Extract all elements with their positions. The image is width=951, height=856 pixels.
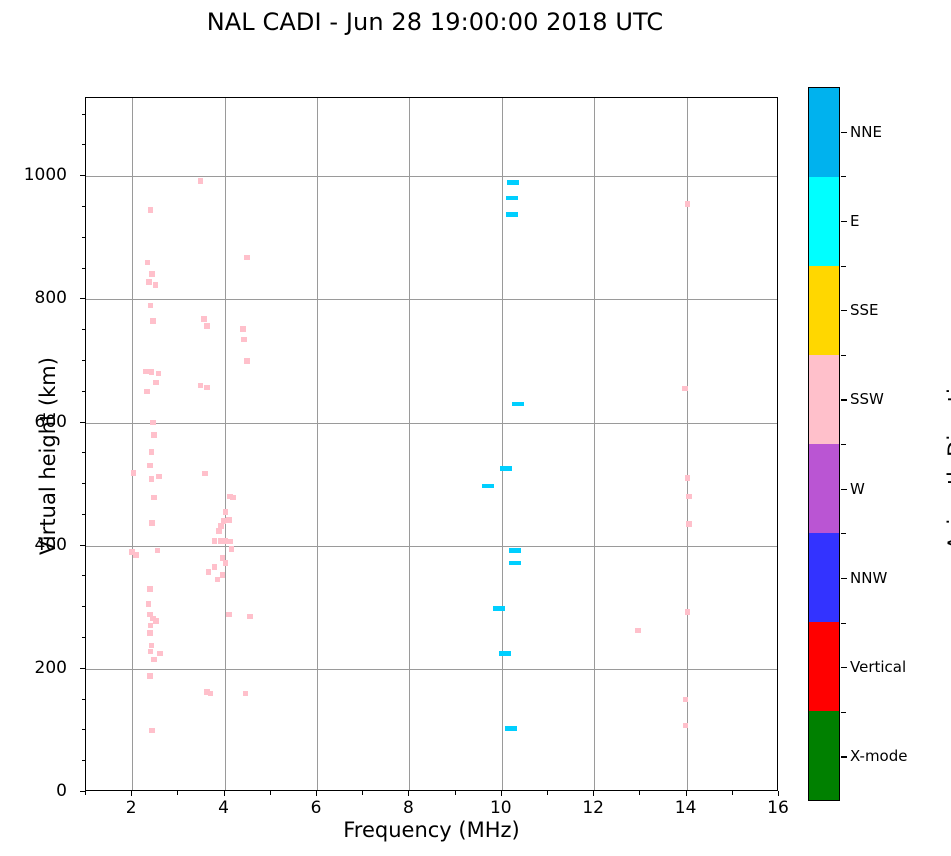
data-point <box>686 494 692 500</box>
x-axis-tick <box>408 791 409 796</box>
data-point <box>226 517 232 523</box>
y-axis-tick <box>80 545 85 546</box>
y-axis-minor-tick <box>82 206 86 207</box>
x-axis-tick-label: 6 <box>311 798 322 818</box>
y-axis-minor-tick <box>82 144 86 145</box>
data-point <box>151 495 157 501</box>
data-point <box>230 495 236 501</box>
colorbar-tick-label: W <box>850 480 865 498</box>
data-point <box>499 651 511 656</box>
data-point <box>240 326 246 332</box>
data-point <box>683 697 689 703</box>
data-point <box>198 383 204 389</box>
y-axis-minor-tick <box>82 760 86 761</box>
data-points-layer <box>86 98 777 790</box>
data-point <box>146 601 152 607</box>
y-axis-minor-tick <box>82 114 86 115</box>
colorbar-boundary-tick <box>841 533 846 534</box>
y-axis-minor-tick <box>82 268 86 269</box>
y-axis-tick-label: 200 <box>35 658 67 678</box>
x-axis-tick-label: 14 <box>675 798 697 818</box>
x-axis-minor-tick <box>270 791 271 795</box>
x-axis-tick <box>686 791 687 796</box>
data-point <box>202 471 208 477</box>
colorbar-segment-e[interactable] <box>809 177 839 266</box>
data-point <box>227 539 233 545</box>
colorbar-label: Azimuth Direction <box>944 306 951 606</box>
data-point <box>682 386 688 392</box>
x-axis-tick-label: 8 <box>403 798 414 818</box>
y-axis-minor-tick <box>82 729 86 730</box>
x-axis-tick-label: 10 <box>490 798 512 818</box>
x-axis-minor-tick <box>455 791 456 795</box>
y-axis-tick <box>80 791 85 792</box>
data-point <box>147 586 153 592</box>
data-point <box>156 371 162 377</box>
x-axis-minor-tick <box>85 791 86 795</box>
colorbar-tick-label: SSW <box>850 390 884 408</box>
azimuth-colorbar[interactable] <box>808 87 840 801</box>
colorbar-boundary-tick <box>841 176 846 177</box>
y-axis-minor-tick <box>82 237 86 238</box>
colorbar-boundary-tick <box>841 623 846 624</box>
x-axis-tick <box>778 791 779 796</box>
x-axis-label: Frequency (MHz) <box>85 818 778 842</box>
data-point <box>683 723 689 729</box>
colorbar-segment-x-mode[interactable] <box>809 711 839 800</box>
data-point <box>156 474 162 480</box>
data-point <box>149 643 155 649</box>
colorbar-segment-w[interactable] <box>809 444 839 533</box>
data-point <box>244 358 250 364</box>
y-axis-minor-tick <box>82 452 86 453</box>
y-axis-minor-tick <box>82 637 86 638</box>
data-point <box>148 207 154 213</box>
x-axis-minor-tick <box>362 791 363 795</box>
data-point <box>145 260 151 266</box>
colorbar-tick <box>841 132 847 133</box>
data-point <box>146 279 152 285</box>
colorbar-segment-vertical[interactable] <box>809 622 839 711</box>
data-point <box>150 420 156 426</box>
x-axis-tick-label: 4 <box>218 798 229 818</box>
y-axis-tick <box>80 298 85 299</box>
data-point <box>150 318 156 324</box>
data-point <box>686 521 692 527</box>
figure-canvas: NAL CADI - Jun 28 19:00:00 2018 UTC 2468… <box>0 0 951 856</box>
y-axis-minor-tick <box>82 575 86 576</box>
plot-area[interactable] <box>85 97 778 791</box>
data-point <box>506 196 518 201</box>
x-axis-tick <box>131 791 132 796</box>
y-axis-tick-label: 800 <box>35 288 67 308</box>
colorbar-tick-label: Vertical <box>850 658 906 676</box>
data-point <box>148 303 154 309</box>
x-axis-tick <box>224 791 225 796</box>
y-axis-minor-tick <box>82 606 86 607</box>
x-axis-tick <box>501 791 502 796</box>
y-axis-tick <box>80 175 85 176</box>
data-point <box>243 691 249 697</box>
y-axis-minor-tick <box>82 699 86 700</box>
y-axis-minor-tick <box>82 391 86 392</box>
colorbar-segment-nnw[interactable] <box>809 533 839 622</box>
y-axis-minor-tick <box>82 360 86 361</box>
data-point <box>148 623 154 629</box>
colorbar-tick <box>841 578 847 579</box>
data-point <box>149 476 155 482</box>
data-point <box>505 726 517 731</box>
data-point <box>204 385 210 391</box>
data-point <box>212 538 218 544</box>
colorbar-boundary-tick <box>841 266 846 267</box>
data-point <box>155 548 161 554</box>
x-axis-tick <box>316 791 317 796</box>
data-point <box>216 528 222 534</box>
y-axis-tick-label: 0 <box>56 781 67 801</box>
data-point <box>147 630 153 636</box>
page-title: NAL CADI - Jun 28 19:00:00 2018 UTC <box>0 8 870 36</box>
x-axis-minor-tick <box>547 791 548 795</box>
data-point <box>493 606 505 611</box>
data-point <box>149 449 155 455</box>
x-axis-tick-label: 12 <box>582 798 604 818</box>
data-point <box>198 178 204 184</box>
data-point <box>509 548 521 553</box>
data-point <box>147 463 153 469</box>
data-point <box>204 323 210 329</box>
y-axis-tick <box>80 422 85 423</box>
x-axis-minor-tick <box>732 791 733 795</box>
colorbar-segment-ssw[interactable] <box>809 355 839 444</box>
data-point <box>685 475 691 481</box>
data-point <box>208 691 214 697</box>
colorbar-tick <box>841 221 847 222</box>
data-point <box>223 560 229 566</box>
colorbar-tick <box>841 489 847 490</box>
x-axis-tick-label: 2 <box>126 798 137 818</box>
data-point <box>506 212 518 217</box>
data-point <box>147 673 153 679</box>
data-point <box>500 466 512 471</box>
data-point <box>153 380 159 386</box>
colorbar-tick <box>841 756 847 757</box>
colorbar-segment-nne[interactable] <box>809 88 839 177</box>
data-point <box>512 402 524 407</box>
colorbar-tick <box>841 310 847 311</box>
data-point <box>149 369 155 375</box>
data-point <box>206 569 212 575</box>
data-point <box>226 612 232 618</box>
data-point <box>244 255 250 261</box>
data-point <box>157 651 163 657</box>
data-point <box>229 546 235 552</box>
y-axis-label: Virtual height (km) <box>36 316 60 596</box>
colorbar-tick <box>841 399 847 400</box>
data-point <box>149 271 155 277</box>
data-point <box>153 618 159 624</box>
data-point <box>153 282 159 288</box>
data-point <box>149 520 155 526</box>
x-axis-minor-tick <box>639 791 640 795</box>
data-point <box>151 432 157 438</box>
colorbar-segment-sse[interactable] <box>809 266 839 355</box>
data-point <box>149 728 155 734</box>
y-axis-minor-tick <box>82 329 86 330</box>
data-point <box>148 649 154 655</box>
data-point <box>223 509 229 515</box>
colorbar-tick-label: NNE <box>850 123 882 141</box>
colorbar-tick-label: E <box>850 212 859 230</box>
colorbar-tick <box>841 667 847 668</box>
colorbar-tick-label: X-mode <box>850 747 907 765</box>
colorbar-boundary-tick <box>841 355 846 356</box>
y-axis-minor-tick <box>82 483 86 484</box>
data-point <box>635 628 641 634</box>
y-axis-tick <box>80 668 85 669</box>
colorbar-tick-label: NNW <box>850 569 887 587</box>
data-point <box>151 657 157 663</box>
data-point <box>131 470 137 476</box>
colorbar-boundary-tick <box>841 712 846 713</box>
data-point <box>212 564 218 570</box>
data-point <box>215 577 221 583</box>
x-axis-tick <box>593 791 594 796</box>
data-point <box>241 337 247 343</box>
y-axis-tick-label: 1000 <box>24 165 67 185</box>
data-point <box>685 609 691 615</box>
data-point <box>201 316 207 322</box>
data-point <box>509 561 521 566</box>
data-point <box>144 389 150 395</box>
data-point <box>482 484 494 489</box>
x-axis-tick-label: 16 <box>767 798 789 818</box>
colorbar-tick-label: SSE <box>850 301 879 319</box>
data-point <box>685 201 691 207</box>
data-point <box>247 614 253 620</box>
data-point <box>133 552 139 558</box>
y-axis-minor-tick <box>82 514 86 515</box>
data-point <box>507 180 519 185</box>
colorbar-boundary-tick <box>841 444 846 445</box>
x-axis-minor-tick <box>177 791 178 795</box>
